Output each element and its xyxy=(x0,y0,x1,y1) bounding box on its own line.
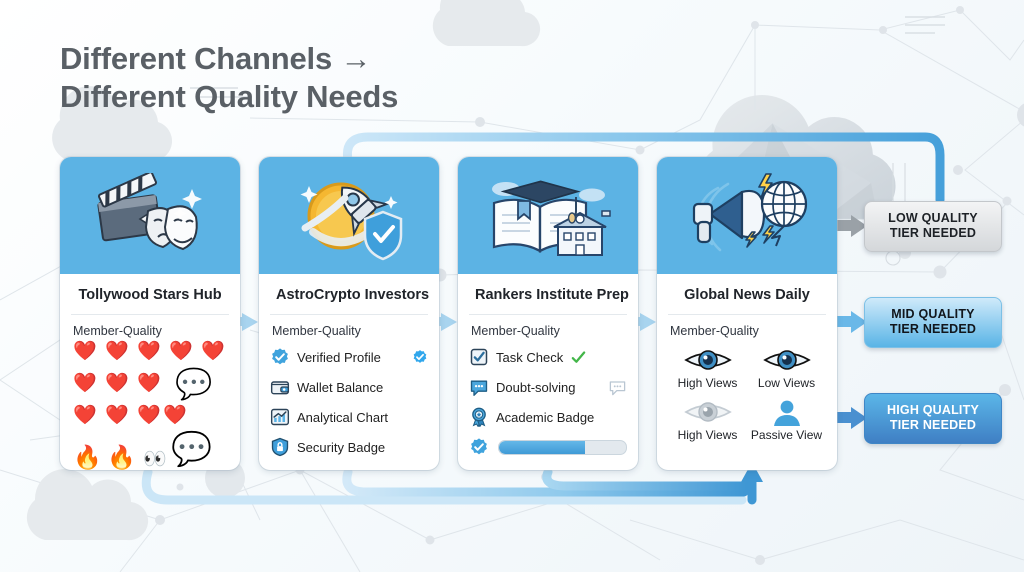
card-title: Global News Daily xyxy=(668,274,826,315)
speech-bubble-outline-icon xyxy=(608,378,627,397)
channel-card-globalnews[interactable]: Global News Daily Member-Quality High Vi… xyxy=(657,157,837,470)
megaphone-globe-icon xyxy=(684,170,810,262)
view-cell-low-views[interactable]: Low Views xyxy=(747,346,826,390)
clapperboard-theater-masks-icon xyxy=(88,173,212,259)
heart-emoji: ❤️ xyxy=(137,342,161,361)
feature-label: Analytical Chart xyxy=(297,410,388,425)
view-cell-passive-view[interactable]: Passive View xyxy=(747,392,826,442)
eye-icon xyxy=(684,346,732,374)
fire-emoji: 🔥 xyxy=(107,446,136,469)
progress-row[interactable] xyxy=(469,432,627,462)
tier-badge-high[interactable]: HIGH QUALITY TIER NEEDED xyxy=(864,393,1002,444)
heart-emoji: ❤️ xyxy=(105,374,129,393)
speech-bubble-icon xyxy=(469,377,489,397)
channel-card-rankers[interactable]: Rankers Institute Prep Member-Quality Ta… xyxy=(458,157,638,470)
feature-row-security-badge[interactable]: Security Badge xyxy=(270,432,428,462)
member-quality-label: Member-Quality xyxy=(458,315,638,342)
feature-row-task-check[interactable]: Task Check xyxy=(469,342,627,372)
feature-row-wallet-balance[interactable]: Wallet Balance xyxy=(270,372,428,402)
feature-row-academic-badge[interactable]: Academic Badge xyxy=(469,402,627,432)
feature-label: Task Check xyxy=(496,350,563,365)
progress-bar-track xyxy=(498,440,627,455)
view-label: Low Views xyxy=(747,376,826,390)
heart-emoji: ❤️ xyxy=(137,374,161,393)
feature-row-analytical-chart[interactable]: Analytical Chart xyxy=(270,402,428,432)
card-header-education xyxy=(458,157,638,274)
feature-label: Academic Badge xyxy=(496,410,594,425)
page-title: Different Channels → Different Quality N… xyxy=(60,40,398,116)
speech-bubble-emoji: 💬 xyxy=(175,370,212,400)
heart-emoji: ❤️ xyxy=(163,406,187,425)
heart-emoji: ❤️ xyxy=(105,342,129,361)
member-quality-label: Member-Quality xyxy=(259,315,439,342)
feature-list: Verified Profile Wallet Balance xyxy=(259,342,439,470)
heart-emoji: ❤️ xyxy=(73,374,97,393)
feature-label: Wallet Balance xyxy=(297,380,383,395)
eyes-emoji: 👀 xyxy=(143,450,167,469)
heart-emoji: ❤️ xyxy=(73,406,97,425)
card-header-clapperboard xyxy=(60,157,240,274)
person-icon xyxy=(763,398,811,426)
member-quality-label: Member-Quality xyxy=(657,315,837,342)
heart-emoji: ❤️ xyxy=(169,342,193,361)
heart-emoji: ❤️ xyxy=(201,342,225,361)
tier-badge-low[interactable]: LOW QUALITY TIER NEEDED xyxy=(864,201,1002,252)
wallet-icon xyxy=(270,377,290,397)
card-title: AstroCrypto Investors xyxy=(270,274,428,315)
view-cell-high-views[interactable]: High Views xyxy=(668,346,747,390)
card-header-rocket-coin xyxy=(259,157,439,274)
view-cell-high-views-faded[interactable]: High Views xyxy=(668,392,747,442)
award-rosette-icon xyxy=(469,407,489,427)
view-label: High Views xyxy=(668,376,747,390)
rocket-coin-shield-icon xyxy=(287,170,411,262)
feature-row-doubt-solving[interactable]: Doubt-solving xyxy=(469,372,627,402)
feature-list: Task Check Doubt-solving xyxy=(458,342,638,470)
verified-badge-icon xyxy=(412,349,428,365)
card-title: Rankers Institute Prep xyxy=(469,274,627,315)
shield-lock-icon xyxy=(270,437,290,457)
view-label: Passive View xyxy=(747,428,826,442)
feature-label: Security Badge xyxy=(297,440,385,455)
eye-icon xyxy=(684,398,732,426)
checkbox-icon xyxy=(469,347,489,367)
book-graduation-school-icon xyxy=(484,169,612,263)
heart-emoji: ❤️ xyxy=(137,406,161,425)
verified-badge-icon xyxy=(469,437,489,457)
feature-row-verified-profile[interactable]: Verified Profile xyxy=(270,342,428,372)
feature-label: Doubt-solving xyxy=(496,380,576,395)
eye-icon xyxy=(763,346,811,374)
feature-label: Verified Profile xyxy=(297,350,381,365)
member-quality-label: Member-Quality xyxy=(60,315,240,342)
card-title: Tollywood Stars Hub xyxy=(71,274,229,315)
progress-bar-fill xyxy=(499,441,585,454)
channel-card-astrocrypto[interactable]: AstroCrypto Investors Member-Quality Ver… xyxy=(259,157,439,470)
card-header-megaphone xyxy=(657,157,837,274)
tier-badge-mid[interactable]: MID QUALITY TIER NEEDED xyxy=(864,297,1002,348)
heart-emoji: ❤️ xyxy=(73,342,97,361)
fire-emoji: 🔥 xyxy=(73,446,102,469)
speech-bubble-emoji: 💬 xyxy=(171,432,212,465)
chart-icon xyxy=(270,407,290,427)
green-check-icon xyxy=(570,349,587,366)
verified-badge-icon xyxy=(270,347,290,367)
emoji-quality-grid: ❤️ ❤️ ❤️ ❤️ ❤️ ❤️ ❤️ ❤️ ❤️ ❤️ ❤️ ❤️ 🔥 🔥 … xyxy=(60,342,240,470)
heart-emoji: ❤️ xyxy=(105,406,129,425)
channel-card-tollywood[interactable]: Tollywood Stars Hub Member-Quality ❤️ ❤️… xyxy=(60,157,240,470)
view-label: High Views xyxy=(668,428,747,442)
views-grid: High Views Low Views High Views xyxy=(657,342,837,470)
